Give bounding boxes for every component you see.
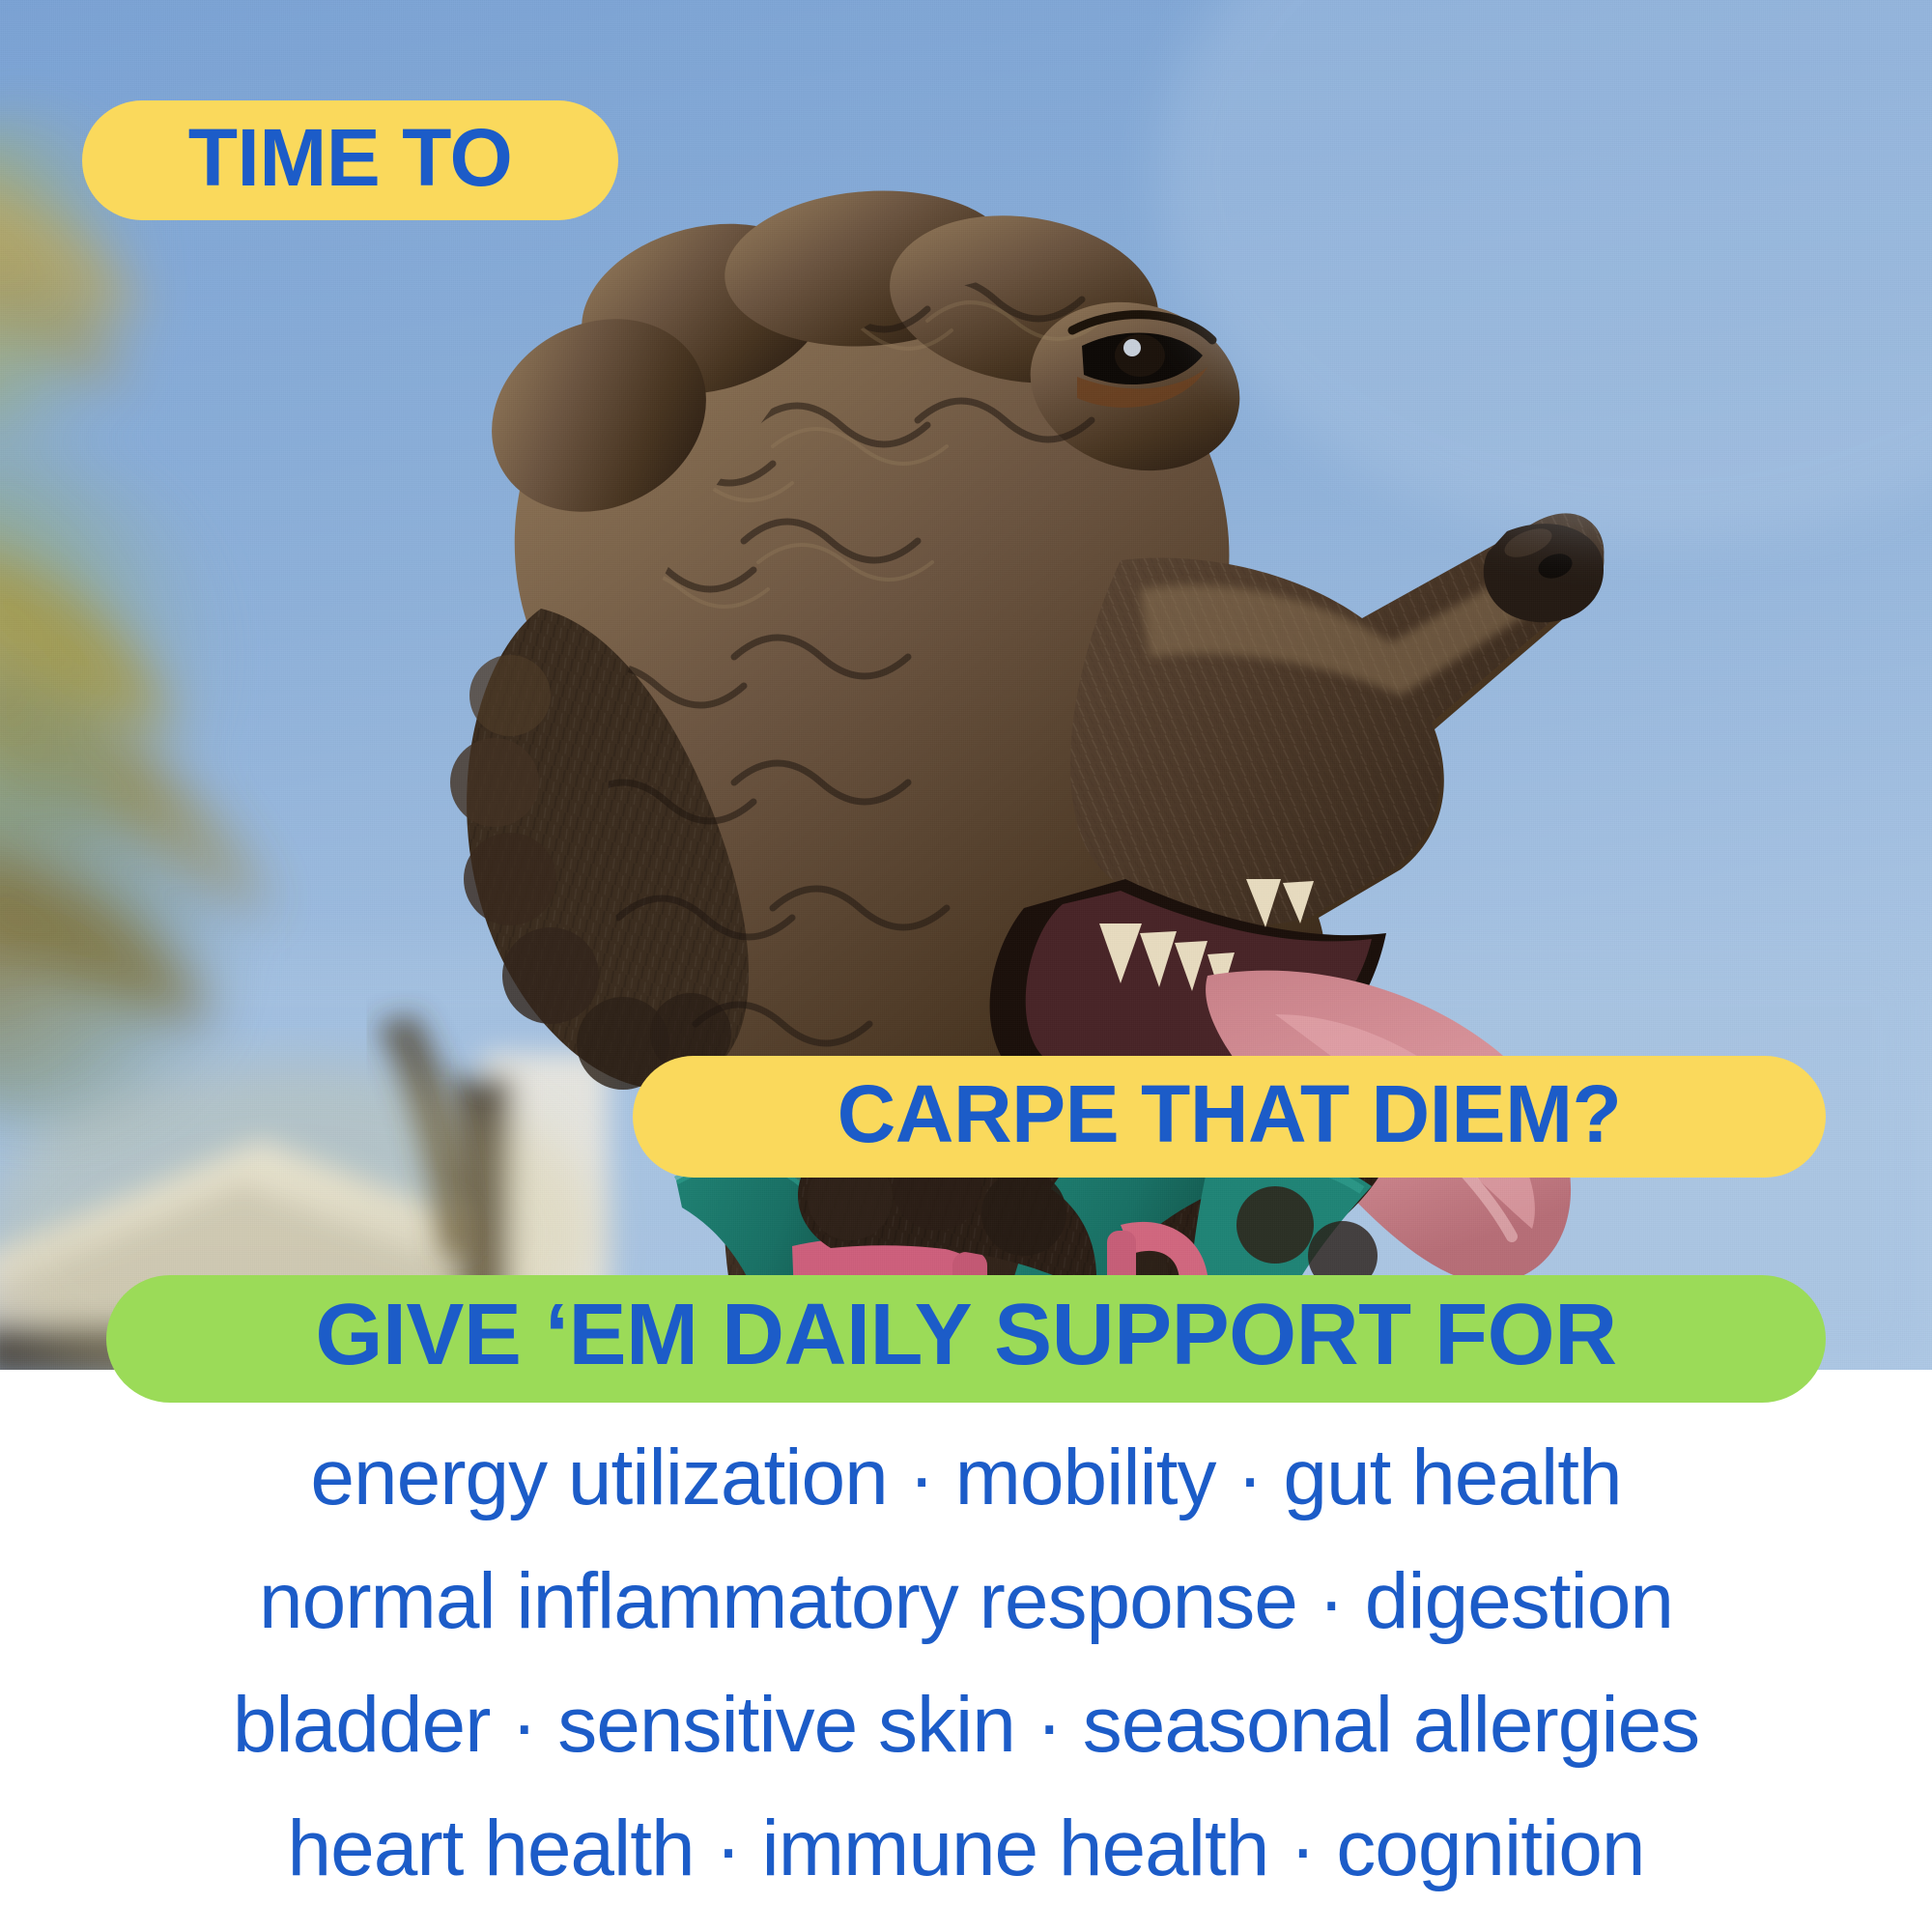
dog-nose bbox=[1484, 523, 1604, 622]
poster-canvas: TIME TO CARPE THAT DIEM? GIVE ‘EM DAILY … bbox=[0, 0, 1932, 1932]
headline-pill-time-to: TIME TO bbox=[82, 100, 618, 220]
benefits-line-2: normal inflammatory response · digestion bbox=[0, 1540, 1932, 1663]
headline-pill-give-em-daily-support-for: GIVE ‘EM DAILY SUPPORT FOR bbox=[106, 1275, 1826, 1403]
benefits-line-3: bladder · sensitive skin · seasonal alle… bbox=[0, 1663, 1932, 1787]
benefits-list: energy utilization · mobility · gut heal… bbox=[0, 1416, 1932, 1911]
headline-pill-carpe-that-diem: CARPE THAT DIEM? bbox=[633, 1056, 1826, 1178]
benefits-line-4: heart health · immune health · cognition bbox=[0, 1787, 1932, 1911]
benefits-line-1: energy utilization · mobility · gut heal… bbox=[0, 1416, 1932, 1540]
